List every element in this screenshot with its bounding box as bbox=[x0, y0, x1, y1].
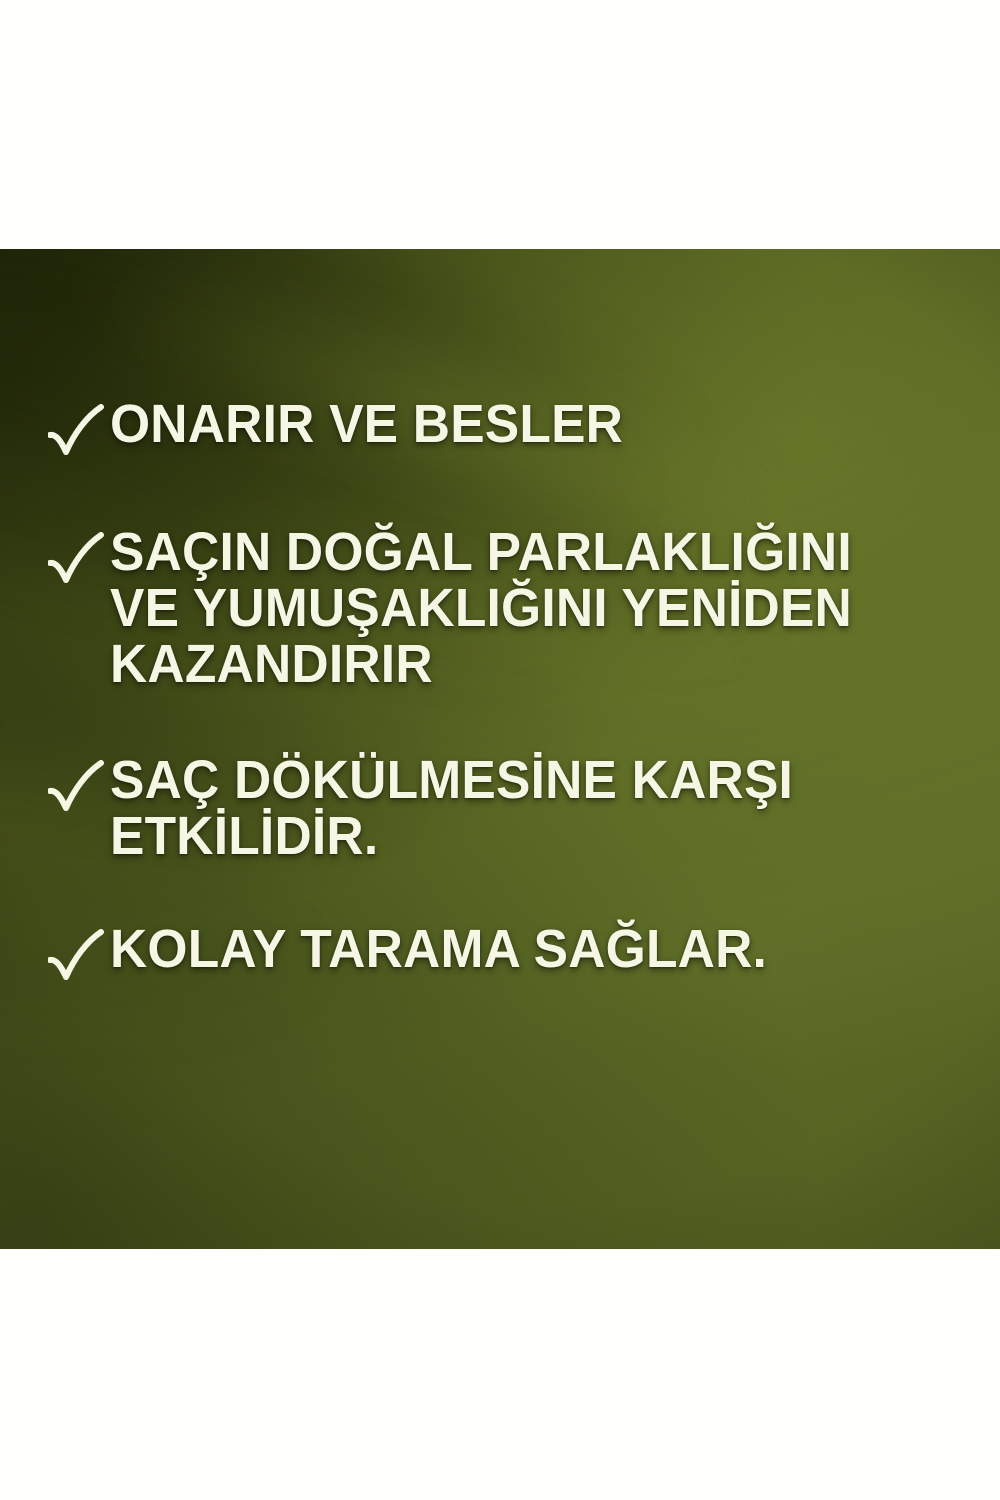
benefit-label: ONARIR VE BESLER bbox=[110, 397, 939, 453]
benefit-label: SAÇ DÖKÜLMESİNE KARŞI ETKİLİDİR. bbox=[110, 753, 939, 865]
checkmark-icon bbox=[48, 926, 104, 988]
benefit-item-kolay-tarama: KOLAY TARAMA SAĞLAR. bbox=[48, 922, 978, 988]
benefit-label: SAÇIN DOĞAL PARLAKLIĞINI VE YUMUŞAKLIĞIN… bbox=[110, 525, 939, 693]
benefit-item-sac-dokulmesi: SAÇ DÖKÜLMESİNE KARŞI ETKİLİDİR. bbox=[48, 753, 978, 865]
benefits-list: ONARIR VE BESLER SAÇIN DOĞAL PARLAKLIĞIN… bbox=[0, 249, 1000, 1249]
letterbox-top bbox=[0, 0, 1000, 249]
checkmark-icon bbox=[48, 529, 104, 591]
product-benefits-card: ONARIR VE BESLER SAÇIN DOĞAL PARLAKLIĞIN… bbox=[0, 0, 1000, 1500]
benefit-label: KOLAY TARAMA SAĞLAR. bbox=[110, 922, 939, 978]
benefit-item-parlaklik-yumusaklik: SAÇIN DOĞAL PARLAKLIĞINI VE YUMUŞAKLIĞIN… bbox=[48, 525, 978, 693]
letterbox-bottom bbox=[0, 1249, 1000, 1500]
benefit-item-onarir-ve-besler: ONARIR VE BESLER bbox=[48, 397, 978, 463]
checkmark-icon bbox=[48, 757, 104, 819]
checkmark-icon bbox=[48, 401, 104, 463]
